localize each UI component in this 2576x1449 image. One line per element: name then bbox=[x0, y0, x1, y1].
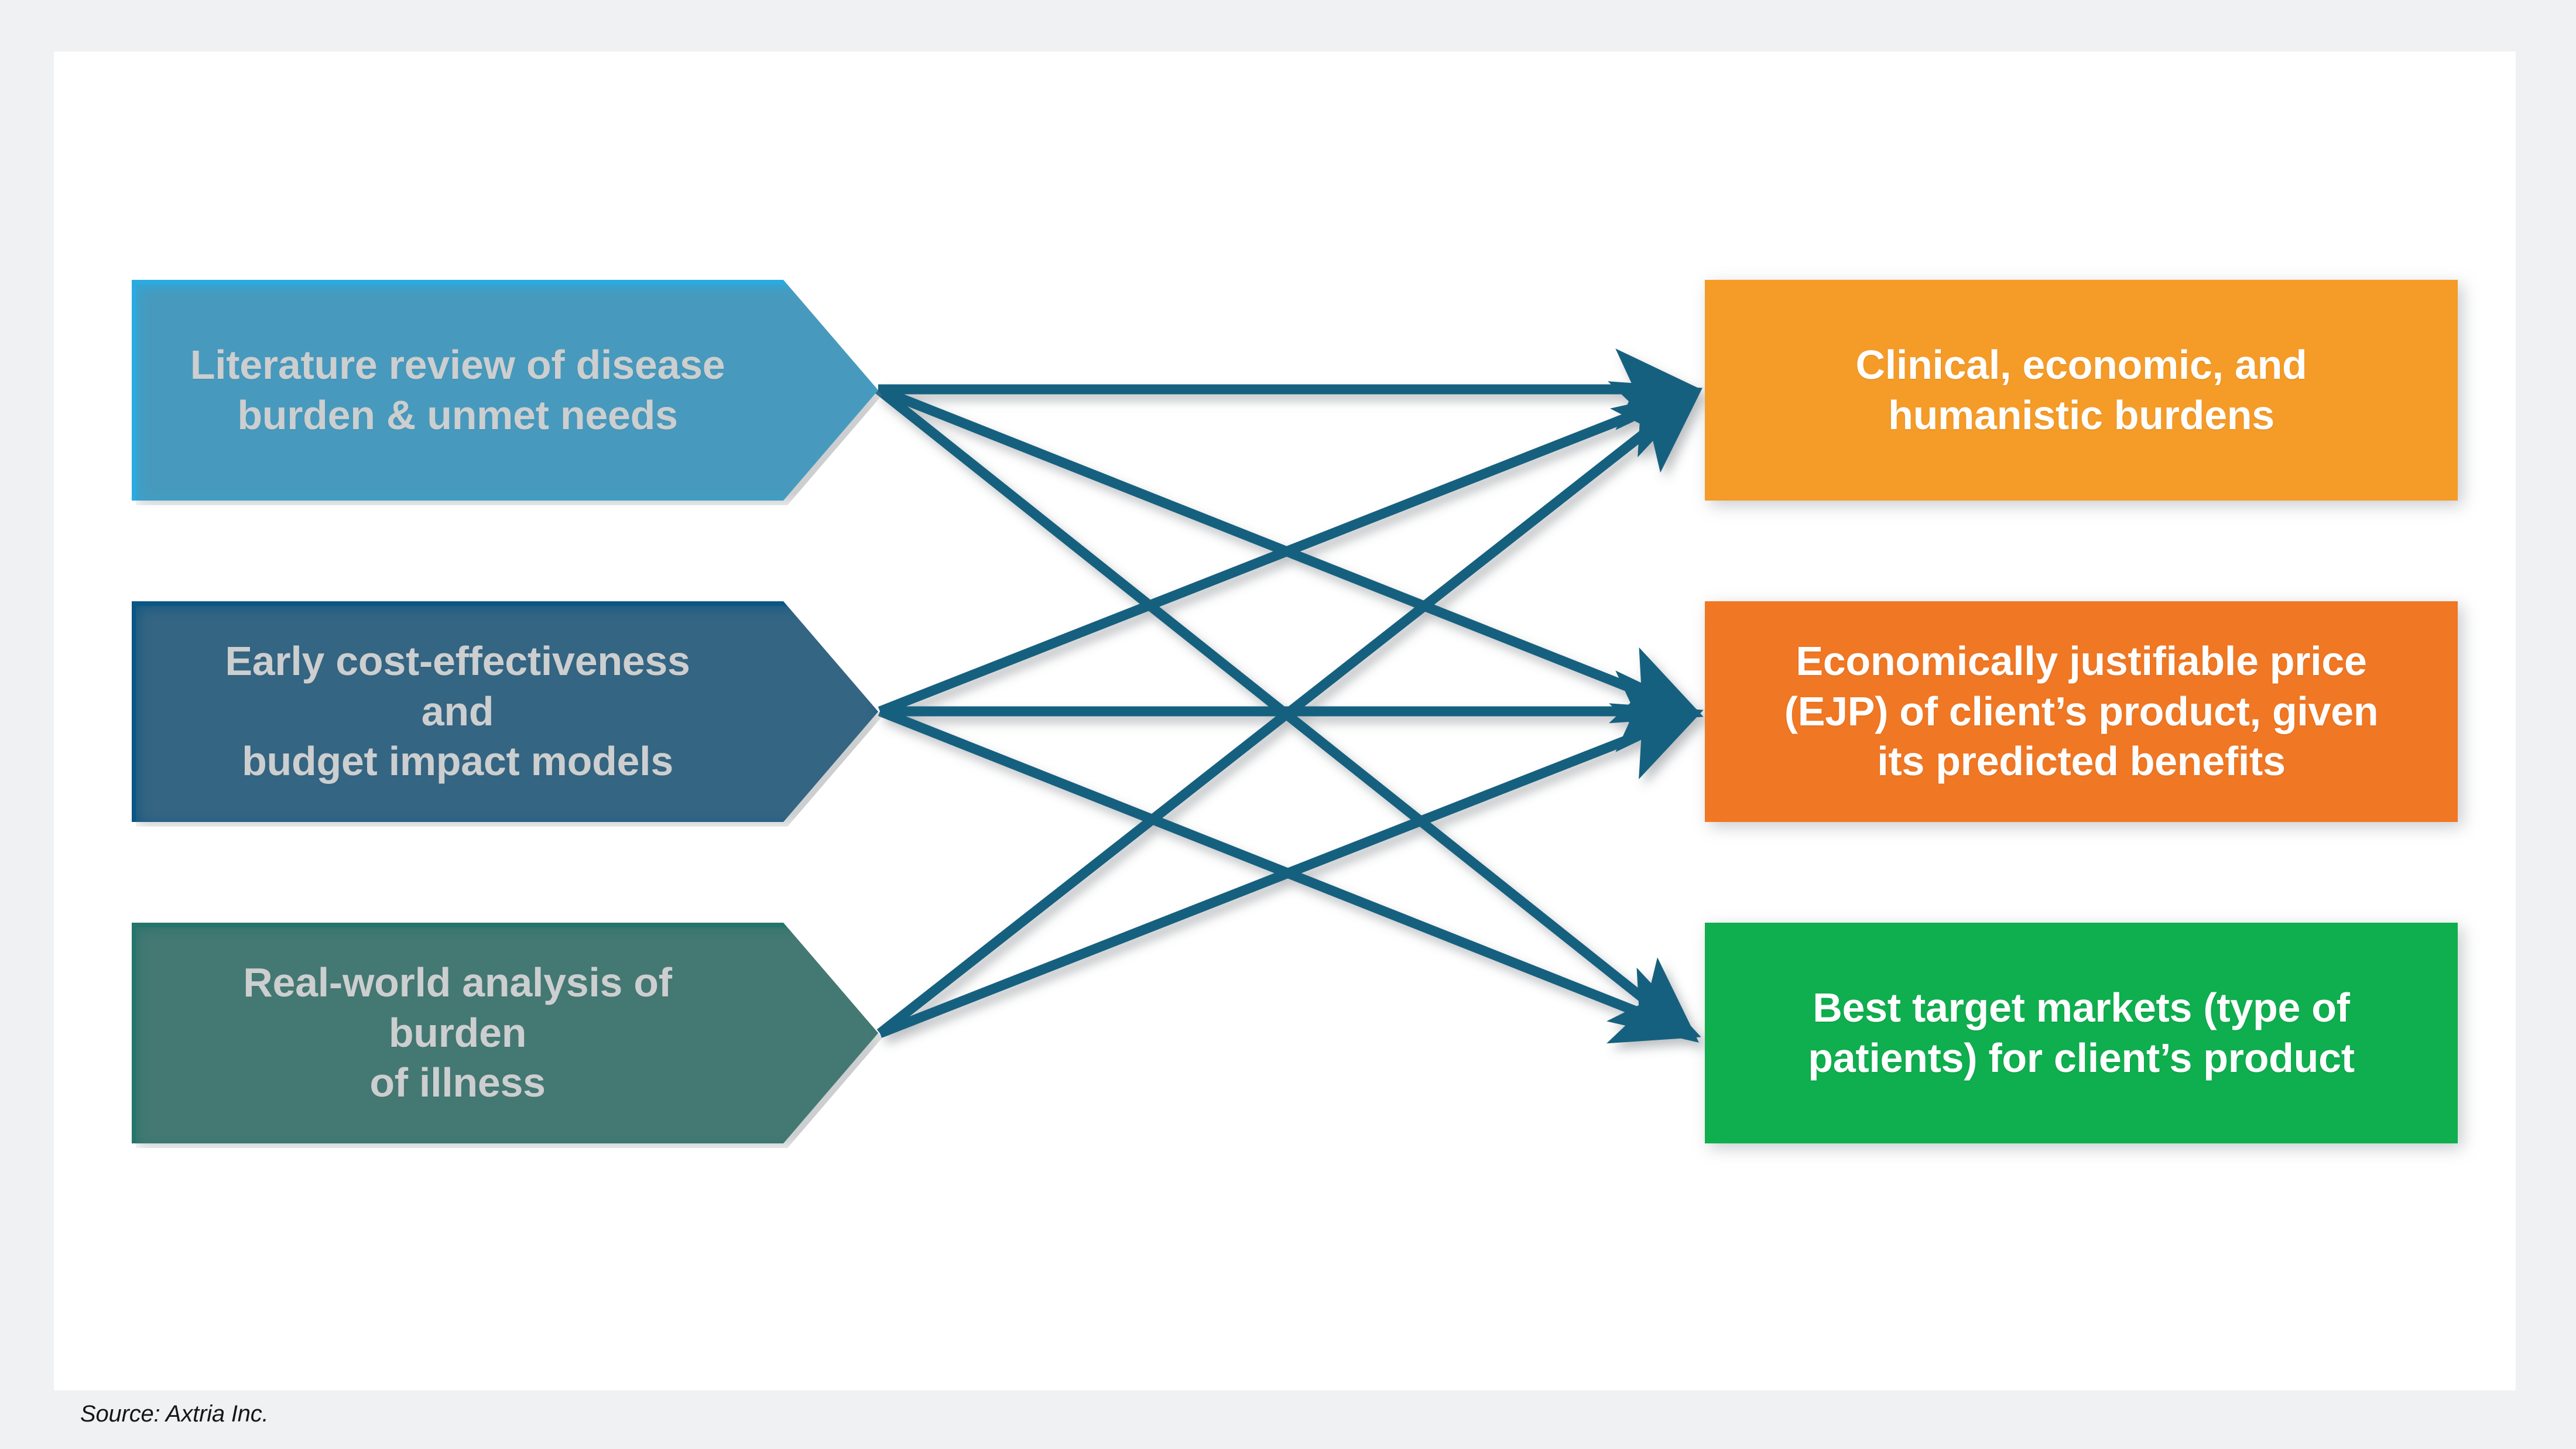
output-node-burdens[interactable]: Clinical, economic, and humanistic burde… bbox=[1705, 280, 2458, 501]
output-node-label-1: Clinical, economic, and humanistic burde… bbox=[1758, 340, 2405, 440]
source-caption: Source: Axtria Inc. bbox=[80, 1401, 269, 1427]
input-node-shadow-3 bbox=[136, 927, 882, 1148]
output-node-ejp[interactable]: Economically justifiable price (EJP) of … bbox=[1705, 601, 2458, 822]
output-node-label-2: Economically justifiable price (EJP) of … bbox=[1758, 636, 2405, 786]
slide-canvas: Literature review of disease burden & un… bbox=[0, 0, 2576, 1449]
input-node-shadow-2 bbox=[136, 606, 882, 827]
output-node-target-markets[interactable]: Best target markets (type of patients) f… bbox=[1705, 923, 2458, 1143]
input-node-shadow-1 bbox=[136, 285, 882, 505]
output-node-label-3: Best target markets (type of patients) f… bbox=[1758, 983, 2405, 1083]
